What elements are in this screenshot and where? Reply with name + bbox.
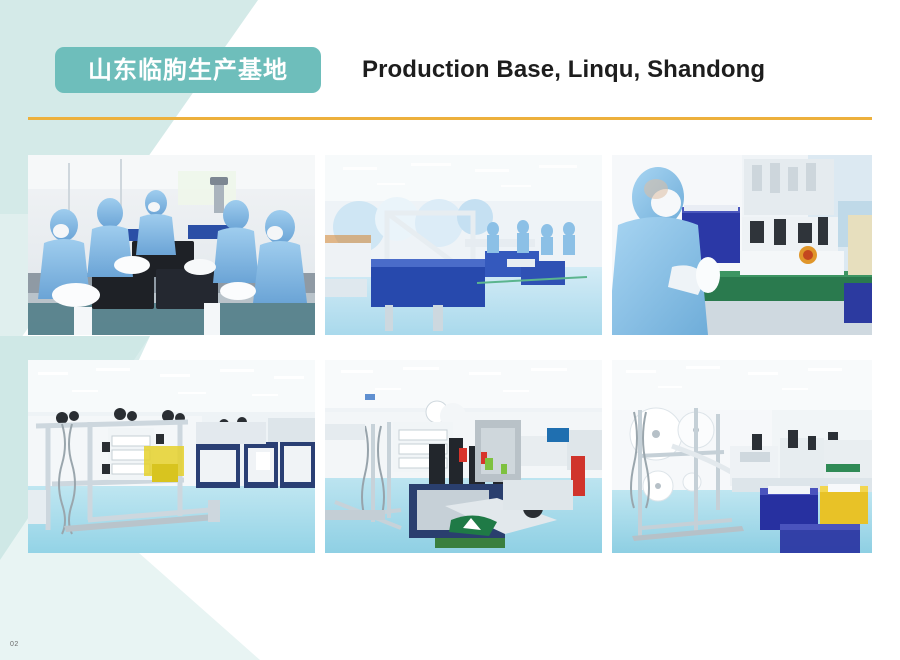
slide-canvas: 山东临朐生产基地 Production Base, Linqu, Shandon…: [0, 0, 900, 660]
gallery-photo-1[interactable]: [28, 155, 315, 335]
photo-gallery-grid: [28, 155, 872, 553]
gallery-photo-5[interactable]: [325, 360, 602, 553]
chinese-title-text: 山东临朐生产基地: [88, 58, 288, 82]
gold-divider-rule: [28, 117, 872, 120]
slide-header: 山东临朐生产基地 Production Base, Linqu, Shandon…: [0, 0, 900, 140]
page-title: Production Base, Linqu, Shandong: [362, 54, 765, 86]
gallery-photo-2[interactable]: [325, 155, 602, 335]
page-number: 02: [10, 641, 19, 648]
chinese-title-badge: 山东临朐生产基地: [55, 47, 321, 93]
gallery-photo-4[interactable]: [28, 360, 315, 553]
gallery-photo-6[interactable]: [612, 360, 872, 553]
gallery-photo-3[interactable]: [612, 155, 872, 335]
